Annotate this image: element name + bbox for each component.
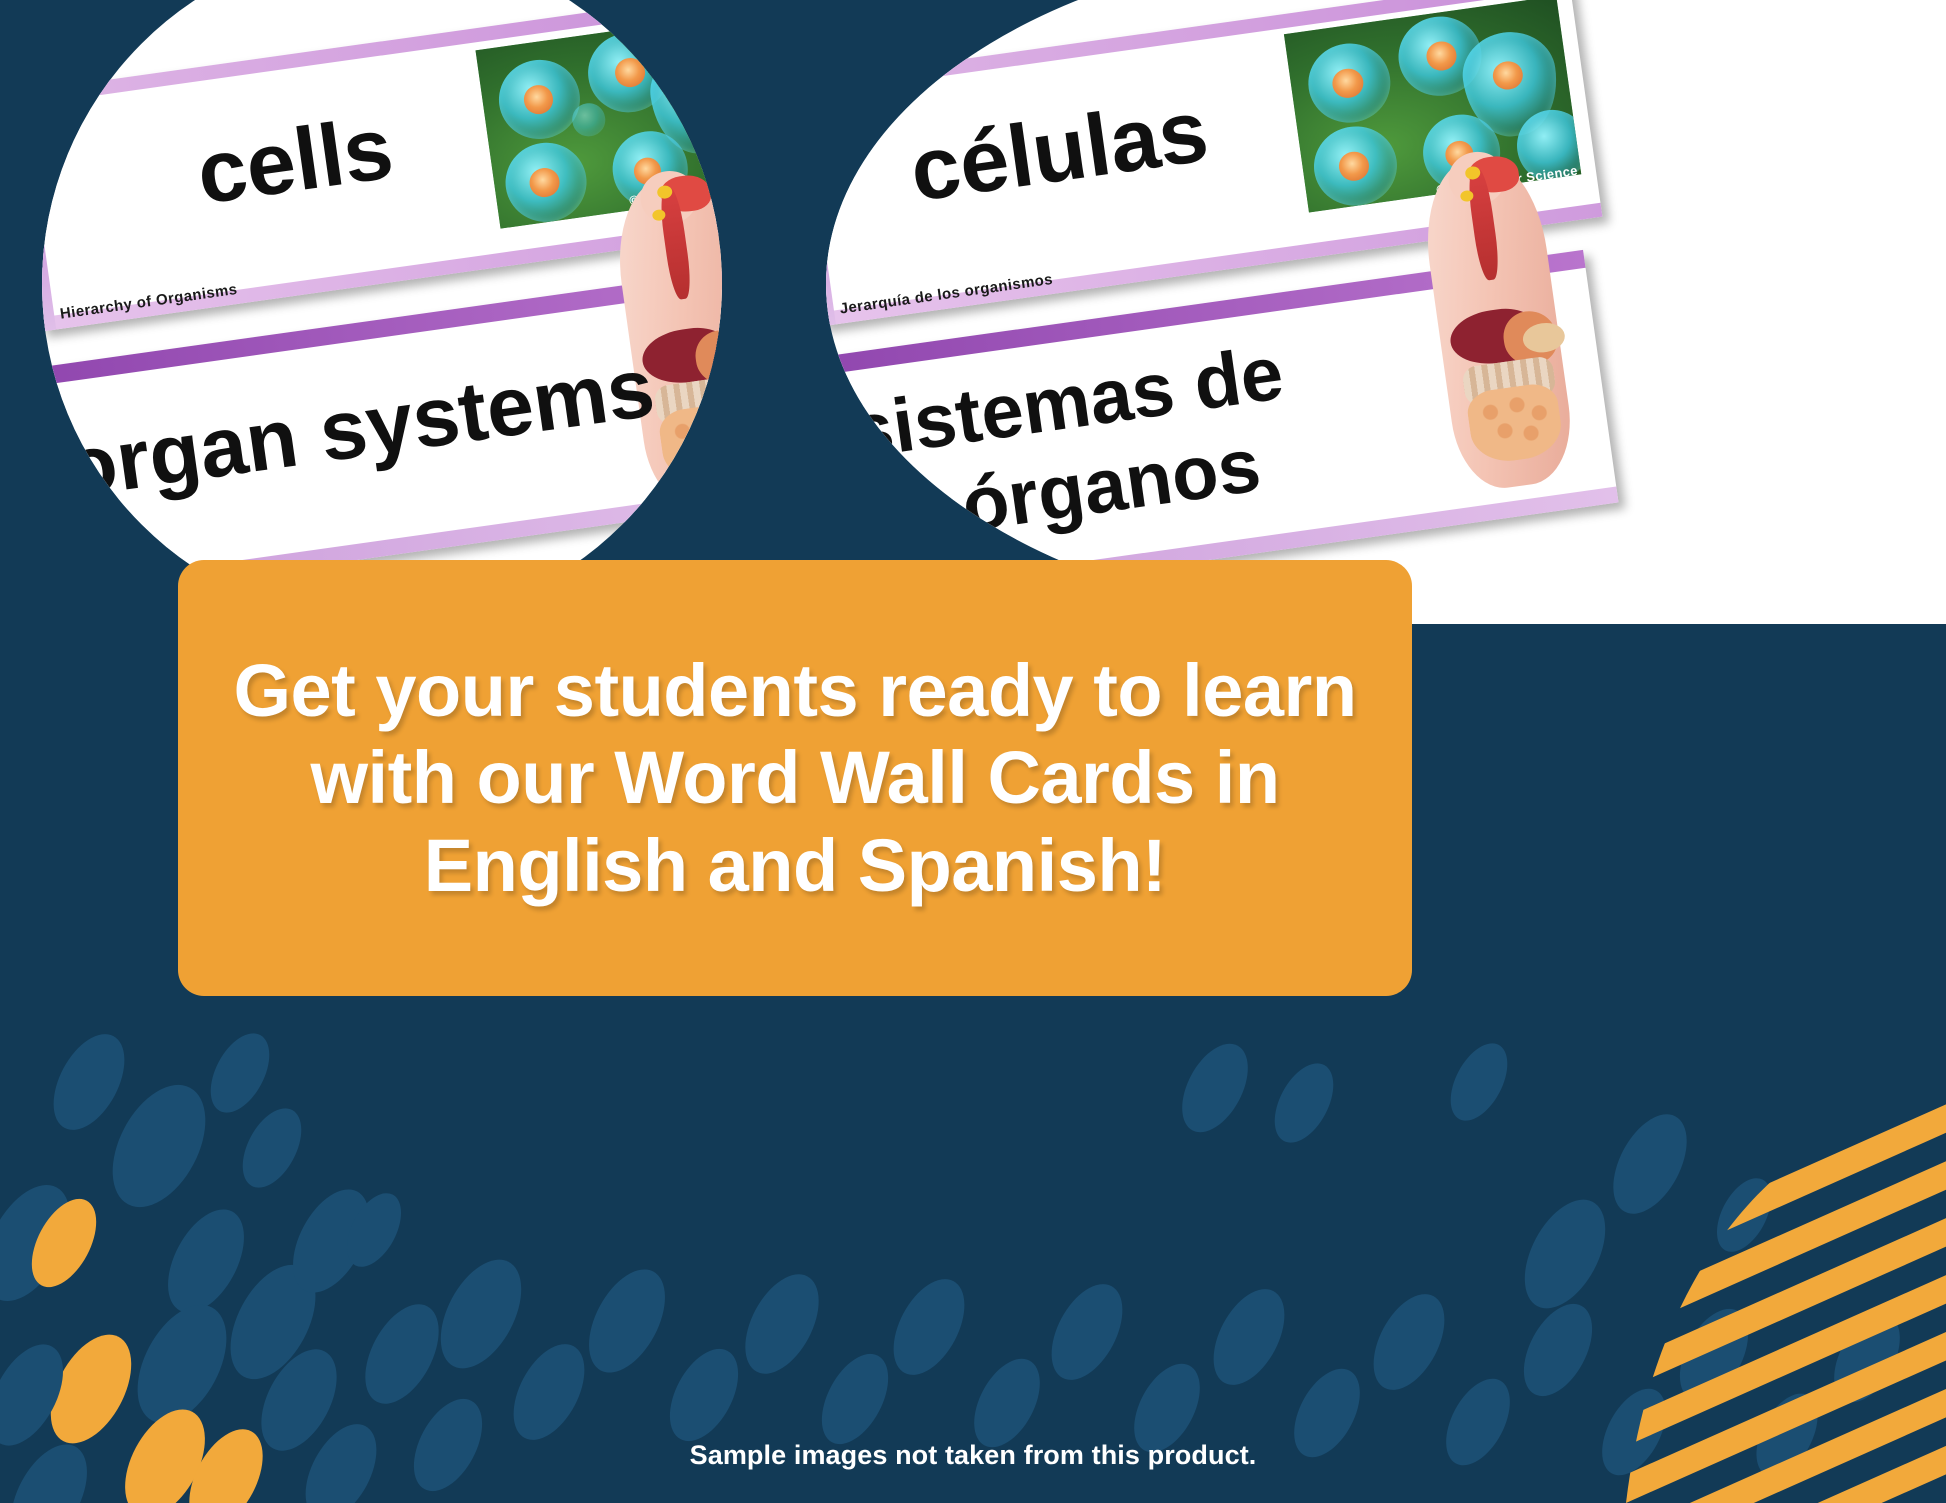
promo-graphic-canvas: cells Hierarchy of Organisms ©2024 Kesle… bbox=[0, 0, 1946, 1503]
confetti-ellipse bbox=[1199, 1277, 1299, 1396]
human-digestive-system-illustration bbox=[572, 165, 722, 518]
promo-banner-text: Get your students ready to learn with ou… bbox=[185, 647, 1404, 909]
card-border-left-icon bbox=[42, 92, 56, 332]
confetti-ellipse bbox=[808, 1343, 902, 1455]
confetti-ellipse bbox=[34, 1321, 148, 1456]
confetti-ellipse bbox=[336, 1184, 412, 1275]
promo-line-1: Get your students ready to learn bbox=[233, 647, 1356, 734]
confetti-ellipse bbox=[231, 1099, 314, 1197]
promo-banner: Get your students ready to learn with ou… bbox=[178, 560, 1412, 996]
confetti-ellipse bbox=[350, 1292, 454, 1416]
confetti-ellipse bbox=[1821, 1303, 1914, 1413]
promo-line-3: English and Spanish! bbox=[233, 822, 1356, 909]
confetti-ellipse bbox=[656, 1338, 752, 1453]
confetti-ellipse bbox=[1666, 1298, 1762, 1413]
confetti-ellipse bbox=[1263, 1054, 1346, 1152]
disclaimer-text: Sample images not taken from this produc… bbox=[0, 1440, 1946, 1471]
promo-line-2: with our Word Wall Cards in bbox=[233, 734, 1356, 821]
confetti-ellipse bbox=[39, 1022, 139, 1141]
confetti-ellipse bbox=[730, 1262, 834, 1386]
confetti-ellipse bbox=[499, 1332, 599, 1451]
confetti-ellipse bbox=[94, 1069, 225, 1222]
confetti-ellipse bbox=[19, 1188, 110, 1297]
card-border-left-icon bbox=[826, 82, 836, 327]
confetti-ellipse bbox=[1439, 1034, 1519, 1130]
card-term-celulas: células bbox=[905, 86, 1213, 215]
confetti-ellipse bbox=[1598, 1102, 1702, 1226]
confetti-ellipse bbox=[1744, 1384, 1830, 1487]
confetti-ellipse bbox=[0, 1332, 78, 1457]
confetti-ellipse bbox=[1706, 1169, 1782, 1260]
confetti-ellipse bbox=[573, 1257, 680, 1385]
confetti-ellipse bbox=[199, 1024, 282, 1122]
confetti-ellipse bbox=[277, 1177, 384, 1305]
confetti-ellipse bbox=[1510, 1293, 1606, 1408]
spanish-sample-circle: células Jerarquía de los organismos ©202… bbox=[826, 0, 1946, 624]
confetti-ellipse bbox=[119, 1290, 244, 1438]
confetti-ellipse bbox=[0, 1171, 87, 1315]
confetti-ellipse bbox=[213, 1251, 333, 1393]
english-sample-circle: cells Hierarchy of Organisms ©2024 Kesle… bbox=[42, 0, 722, 624]
card-term-cells: cells bbox=[192, 103, 398, 217]
confetti-ellipse bbox=[879, 1267, 979, 1386]
confetti-ellipse bbox=[1359, 1282, 1459, 1401]
confetti-ellipse bbox=[152, 1197, 259, 1325]
confetti-ellipse bbox=[424, 1246, 538, 1381]
diagonal-stripe-burst-icon bbox=[1326, 963, 1946, 1503]
confetti-ellipse bbox=[1508, 1186, 1622, 1321]
confetti-ellipse bbox=[1037, 1272, 1137, 1391]
confetti-ellipse bbox=[1169, 1033, 1262, 1143]
